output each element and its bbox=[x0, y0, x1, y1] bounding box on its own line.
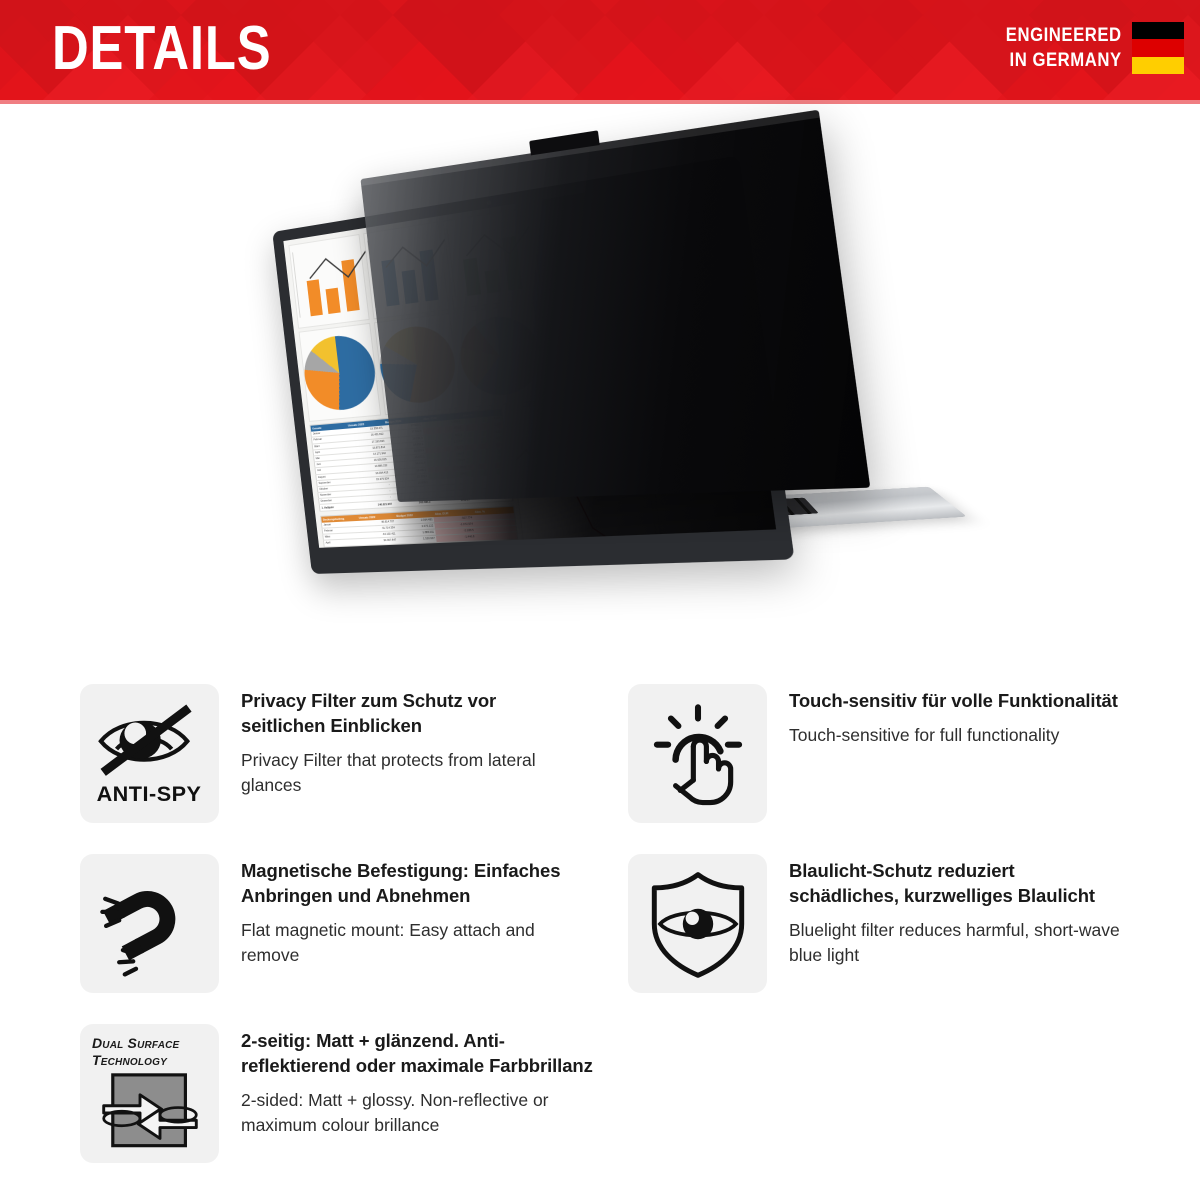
page-header-banner: DETAILS ENGINEERED IN GERMANY bbox=[0, 0, 1200, 100]
feature-title: Privacy Filter zum Schutz vor seitlichen… bbox=[241, 688, 571, 738]
table-cell: Mai bbox=[324, 545, 361, 548]
feature-icon-tile: Dual Surface Technology bbox=[80, 1024, 219, 1163]
engineered-line-2: IN GERMANY bbox=[1006, 48, 1122, 73]
dual-surface-flip-icon bbox=[91, 1067, 209, 1159]
feature-text: 2-seitig: Matt + glänzend. Anti-reflekti… bbox=[241, 1024, 601, 1138]
table-cell bbox=[477, 545, 519, 547]
feature-bluelight-filter: Blaulicht-Schutz reduziert schädliches, … bbox=[628, 854, 1129, 993]
feature-text: Magnetische Befestigung: Einfaches Anbri… bbox=[241, 854, 571, 968]
table-cell: 146.021.007 bbox=[356, 501, 394, 509]
page-title: DETAILS bbox=[52, 14, 271, 84]
flag-band bbox=[1132, 57, 1184, 74]
feature-subtitle: Touch-sensitive for full functionality bbox=[789, 723, 1129, 748]
pie-chart bbox=[301, 332, 380, 413]
feature-icon-tile bbox=[628, 854, 767, 993]
feature-title: Magnetische Befestigung: Einfaches Anbri… bbox=[241, 858, 571, 908]
engineered-line-1: ENGINEERED bbox=[1006, 23, 1122, 48]
flag-band bbox=[1132, 39, 1184, 56]
shield-eye-icon bbox=[641, 867, 755, 981]
table-cell: 1.411.2 bbox=[398, 542, 437, 548]
feature-list: ANTI-SPY Privacy Filter zum Schutz vor s… bbox=[0, 668, 1200, 1200]
privacy-filter-panel bbox=[360, 110, 870, 502]
product-detail-page: DETAILS ENGINEERED IN GERMANY Beispielab… bbox=[0, 0, 1200, 1200]
feature-title: 2-seitig: Matt + glänzend. Anti-reflekti… bbox=[241, 1028, 601, 1078]
hero-product-image: Beispielabbildung | Sample illustration … bbox=[0, 104, 1200, 664]
contribution-table: DeckungsbeitragUmsatz 2022Budget 2022Abw… bbox=[320, 505, 525, 548]
feature-title: Blaulicht-Schutz reduziert schädliches, … bbox=[789, 858, 1129, 908]
filter-top-edge bbox=[360, 110, 819, 186]
line-series bbox=[527, 539, 657, 547]
table-cell: 31.956.864 bbox=[361, 544, 399, 548]
chart-bar bbox=[326, 288, 341, 314]
table-cell: -1.290.6 bbox=[437, 540, 478, 547]
feature-icon-tile: ANTI-SPY bbox=[80, 684, 219, 823]
table-cell: 1. Halbjahr bbox=[319, 503, 356, 511]
feature-privacy-filter: ANTI-SPY Privacy Filter zum Schutz vor s… bbox=[80, 684, 571, 823]
engineered-text: ENGINEERED IN GERMANY bbox=[1006, 23, 1122, 73]
feature-text: Privacy Filter zum Schutz vor seitlichen… bbox=[241, 684, 571, 798]
magnet-icon bbox=[94, 868, 206, 980]
feature-subtitle: Flat magnetic mount: Easy attach and rem… bbox=[241, 918, 571, 968]
touch-hand-icon bbox=[642, 698, 754, 810]
chart-axis bbox=[292, 252, 301, 318]
feature-text: Blaulicht-Schutz reduziert schädliches, … bbox=[789, 854, 1129, 968]
feature-icon-tile bbox=[628, 684, 767, 823]
feature-magnetic-mount: Magnetische Befestigung: Einfaches Anbri… bbox=[80, 854, 571, 993]
combo-chart bbox=[288, 234, 369, 329]
feature-touch-sensitive: Touch-sensitiv für volle Funktionalität … bbox=[628, 684, 1129, 823]
german-flag-icon bbox=[1132, 22, 1184, 74]
laptop-stage: UmsatzUmsatz 2022Budget 2022Abw. EURAbw.… bbox=[300, 124, 1090, 664]
feature-text: Touch-sensitiv für volle Funktionalität … bbox=[789, 684, 1129, 748]
dual-surface-label: Dual Surface Technology bbox=[92, 1035, 212, 1069]
flag-band bbox=[1132, 22, 1184, 39]
anti-spy-eye-icon: ANTI-SPY bbox=[91, 695, 209, 813]
table-cell: -1.418.4 bbox=[438, 547, 479, 548]
feature-subtitle: Privacy Filter that protects from latera… bbox=[241, 748, 571, 798]
anti-spy-label: ANTI-SPY bbox=[96, 781, 201, 806]
feature-subtitle: 2-sided: Matt + glossy. Non-reflective o… bbox=[241, 1088, 601, 1138]
feature-subtitle: Bluelight filter reduces harmful, short-… bbox=[789, 918, 1129, 968]
engineered-in-germany-badge: ENGINEERED IN GERMANY bbox=[990, 22, 1184, 74]
feature-icon-tile bbox=[80, 854, 219, 993]
table-cell bbox=[477, 539, 519, 547]
feature-title: Touch-sensitiv für volle Funktionalität bbox=[789, 688, 1129, 713]
feature-dual-surface: Dual Surface Technology 2-seitig: Matt +… bbox=[80, 1024, 601, 1163]
pie-chart-cell bbox=[299, 323, 382, 422]
